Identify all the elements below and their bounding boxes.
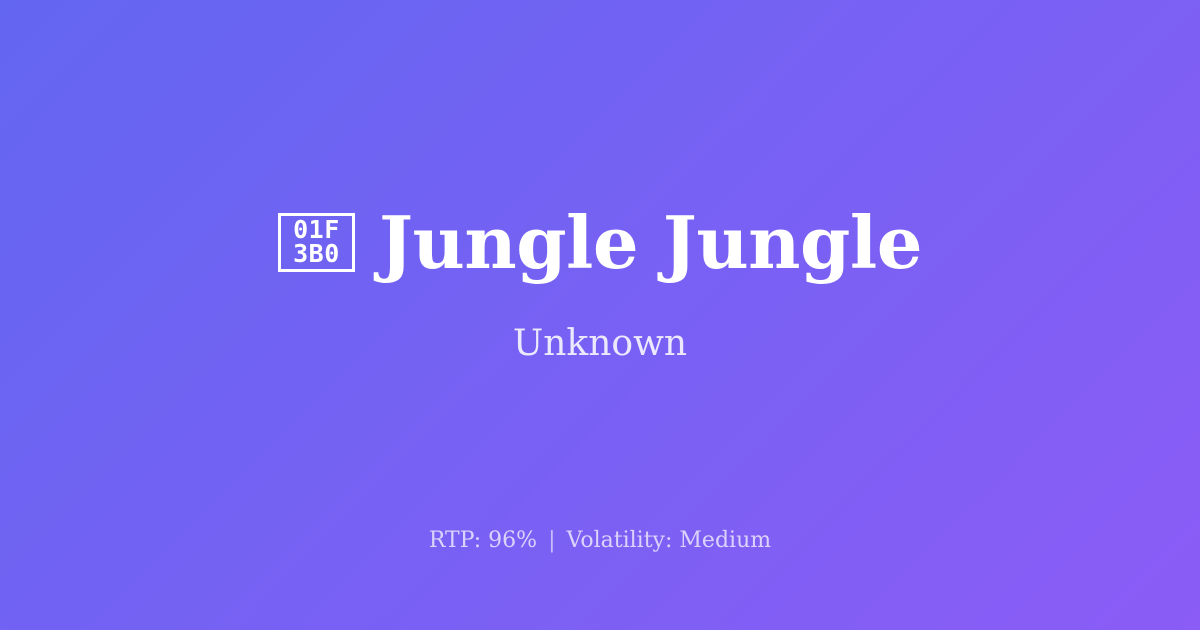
slot-machine-icon: 01F 3B0	[278, 213, 355, 272]
tofu-codepoint-bottom: 3B0	[293, 242, 340, 266]
game-stats-line: RTP: 96% | Volatility: Medium	[0, 527, 1200, 556]
stats-separator: |	[544, 528, 559, 553]
page-title: Jungle Jungle	[379, 205, 922, 281]
rtp-value: 96%	[488, 528, 537, 553]
volatility-value: Medium	[679, 528, 771, 553]
title-row: 01F 3B0 Jungle Jungle	[278, 205, 922, 281]
social-preview-card: 01F 3B0 Jungle Jungle Unknown RTP: 96% |…	[0, 0, 1200, 630]
rtp-label: RTP:	[429, 528, 481, 553]
page-subtitle: Unknown	[513, 322, 687, 365]
volatility-label: Volatility:	[567, 528, 673, 553]
